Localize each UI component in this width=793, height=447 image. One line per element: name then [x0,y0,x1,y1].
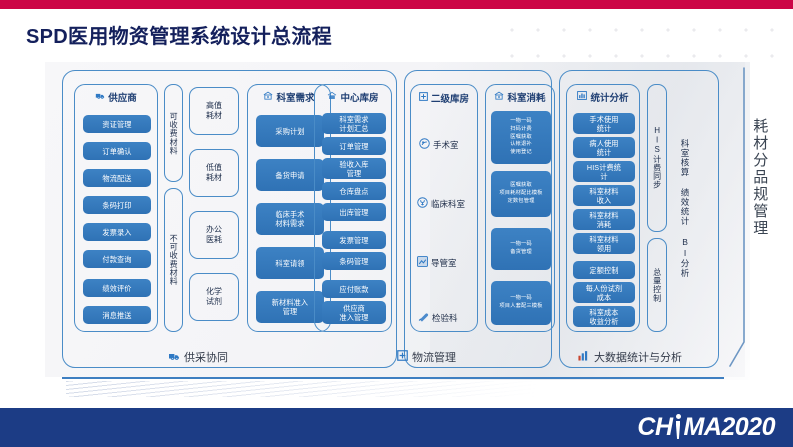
warehouse-home-icon [327,91,337,103]
label-non-chargeable-material: 不可收费材料 [168,234,179,286]
footer-label-1-text: 物流管理 [412,349,456,365]
box-material-type-2: 办公 医耗 [189,211,239,259]
panel-dept-consumption-header: 科室消耗 [486,90,554,104]
pill-central-warehouse-7[interactable]: 应付账款 [322,280,386,298]
pill-supplier-1[interactable]: 订单确认 [83,142,151,160]
plus-box-icon [397,350,408,364]
panel-central-warehouse: 中心库房 科室需求 计划汇总 订单管理 验收入库 管理 仓库盘点 出库管理 发票… [314,84,392,332]
pill-supplier-7[interactable]: 消息推送 [83,306,151,324]
footer-label-supply-collaboration: 供采协同 [168,349,228,365]
footer-label-bigdata: 大数据统计与分析 [578,349,682,365]
pill-statistics-3[interactable]: 科室材料 收入 [573,185,635,206]
bar-chart-icon [577,91,587,103]
chima-logo: CH MA2020 [637,413,775,441]
lab-test-icon [418,311,429,324]
footer-label-2-text: 大数据统计与分析 [594,349,682,365]
label-dept-accounting: 科室核算 绩效统计 BI分析 [679,139,691,278]
logo-prefix: CH [637,413,672,442]
pill-central-warehouse-4[interactable]: 出库管理 [322,203,386,221]
panel-supplier-header: 供应商 [75,90,157,104]
top-accent-bar [0,0,793,9]
pill-dept-consumption-1[interactable]: 医嘱获取 项目耗材配比模板 定数包管理 [491,171,551,217]
pill-central-warehouse-2[interactable]: 验收入库 管理 [322,158,386,179]
bottom-hatch-decoration [66,381,536,397]
pill-statistics-8[interactable]: 科室成本 收益分析 [573,306,635,327]
box-chargeable-material: 可收费材料 [164,84,183,182]
right-caption-text: 耗材分品规管理 [748,118,771,237]
pill-dept-consumption-2[interactable]: 一物一码 备货管理 [491,228,551,270]
label-total-control: 总量控制 [651,268,662,302]
down-arrow-line-icon [726,66,750,374]
panel-central-warehouse-header: 中心库房 [315,90,391,104]
panel-statistics: 统计分析 手术使用 统计 病人使用 统计 HIS计费统 计 科室材料 收入 科室… [566,84,640,332]
pill-central-warehouse-5[interactable]: 发票管理 [322,231,386,249]
box-total-control: 总量控制 [647,238,667,332]
hospital-building-icon [263,91,273,103]
ward-row-3[interactable]: 检验科 [418,311,458,324]
pill-supplier-4[interactable]: 发票录入 [83,223,151,241]
bar-chart-icon [578,350,590,364]
pill-dept-consumption-3[interactable]: 一物一码 项目人套配三模板 [491,281,551,325]
pill-statistics-2[interactable]: HIS计费统 计 [573,161,635,182]
pill-statistics-5[interactable]: 科室材料 领用 [573,233,635,254]
panel-supplier-title: 供应商 [108,90,137,104]
panel-dept-consumption-title: 科室消耗 [507,90,545,104]
ward-row-0[interactable]: 手术室 [419,138,459,151]
pill-statistics-0[interactable]: 手术使用 统计 [573,113,635,134]
dot-grid-decoration [493,9,793,71]
label-his-billing-sync: HIS计费同步 [651,126,662,189]
ward-label-3: 检验科 [432,312,458,324]
hospital-building-icon [494,91,504,103]
ward-label-1: 临床科室 [431,198,465,210]
panel-dept-demand-title: 科室需求 [276,90,314,104]
panel-second-level-warehouse: 二级库房 手术室 临床科室 导管室 检验科 [410,84,478,332]
panel-dept-consumption: 科室消耗 一物一码 扫码计费 医嘱获取 认帐退补 使用登记 医嘱获取 项目耗材配… [485,84,555,332]
pill-dept-consumption-0[interactable]: 一物一码 扫码计费 医嘱获取 认帐退补 使用登记 [491,111,551,164]
pill-central-warehouse-0[interactable]: 科室需求 计划汇总 [322,113,386,134]
pill-central-warehouse-1[interactable]: 订单管理 [322,137,386,155]
pill-supplier-6[interactable]: 绩效评价 [83,279,151,297]
ward-row-1[interactable]: 临床科室 [417,197,465,210]
footer-label-0-text: 供采协同 [184,349,228,365]
person-figure-icon [673,415,684,439]
slide-canvas: SPD医用物资管理系统设计总流程 供应商 资证管理 订单确认 物流配送 条码打印… [0,0,793,447]
clinic-dept-icon [417,197,428,210]
box-material-type-1: 低值 耗材 [189,149,239,197]
pill-supplier-2[interactable]: 物流配送 [83,169,151,187]
pill-statistics-1[interactable]: 病人使用 统计 [573,137,635,158]
box-material-type-3: 化学 试剂 [189,273,239,321]
panel-statistics-title: 统计分析 [590,90,628,104]
box-material-type-0: 高值 耗材 [189,87,239,135]
pill-statistics-6[interactable]: 定额控制 [573,261,635,279]
pill-central-warehouse-8[interactable]: 供应商 准入管理 [322,301,386,324]
ward-label-0: 手术室 [433,139,459,151]
bottom-rule [62,377,724,379]
right-caption: 耗材分品规管理 [748,118,771,242]
column-dept-accounting: 科室核算 绩效统计 BI分析 [673,84,697,332]
pill-central-warehouse-6[interactable]: 条码管理 [322,252,386,270]
pill-supplier-0[interactable]: 资证管理 [83,115,151,133]
panel-second-level-header: 二级库房 [411,91,477,105]
panel-second-level-title: 二级库房 [431,91,469,105]
panel-statistics-header: 统计分析 [567,90,639,104]
ward-row-2[interactable]: 导管室 [417,256,457,269]
catheter-room-icon [417,256,428,269]
logo-suffix: MA2020 [684,413,776,442]
pill-statistics-4[interactable]: 科室材料 消耗 [573,209,635,230]
truck-delivery-icon [168,351,180,364]
pill-supplier-5[interactable]: 付款查询 [83,250,151,268]
pill-supplier-3[interactable]: 条码打印 [83,196,151,214]
ward-label-2: 导管室 [431,257,457,269]
pill-central-warehouse-3[interactable]: 仓库盘点 [322,182,386,200]
surgery-room-icon [419,138,430,151]
panel-supplier: 供应商 资证管理 订单确认 物流配送 条码打印 发票录入 付款查询 绩效评价 消… [74,84,158,332]
box-his-billing-sync: HIS计费同步 [647,84,667,232]
label-chargeable-material: 可收费材料 [168,112,179,155]
plus-box-icon [419,92,428,104]
page-title: SPD医用物资管理系统设计总流程 [26,20,332,49]
panel-central-warehouse-title: 中心库房 [340,90,378,104]
box-non-chargeable-material: 不可收费材料 [164,188,183,332]
footer-label-logistics: 物流管理 [397,349,456,365]
pill-statistics-7[interactable]: 每人份试剂 成本 [573,282,635,303]
truck-delivery-icon [95,91,105,103]
